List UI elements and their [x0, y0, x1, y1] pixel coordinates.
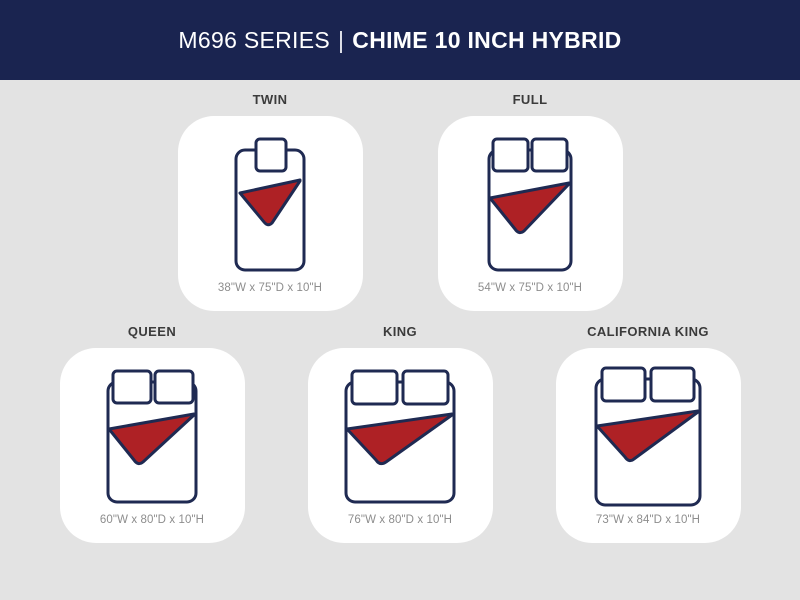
size-dims-twin: 38"W x 75"D x 10"H: [218, 282, 322, 311]
bed-illustration-wrap: [308, 360, 493, 514]
page-header: M696 SERIES | CHIME 10 INCH HYBRID: [0, 0, 800, 80]
size-cell-california-king[interactable]: CALIFORNIA KING 73"W x 84"D x 10"H: [553, 324, 743, 543]
size-label-full: FULL: [513, 92, 548, 107]
size-card-twin[interactable]: 38"W x 75"D x 10"H: [178, 116, 363, 311]
size-dims-california-king: 73"W x 84"D x 10"H: [596, 514, 700, 543]
size-dims-king: 76"W x 80"D x 10"H: [348, 514, 452, 543]
size-cell-twin[interactable]: TWIN 38"W x 75"D x 10"H: [175, 92, 365, 311]
size-cell-king[interactable]: KING 76"W x 80"D x 10"H: [305, 324, 495, 543]
bed-full-icon: [479, 135, 581, 275]
bed-illustration-wrap: [60, 360, 245, 514]
bed-queen-icon: [96, 367, 208, 507]
size-row-bottom: QUEEN 60"W x 80"D x 10"H KING: [0, 311, 800, 543]
size-card-king[interactable]: 76"W x 80"D x 10"H: [308, 348, 493, 543]
size-label-california-king: CALIFORNIA KING: [587, 324, 709, 339]
bed-illustration-wrap: [438, 128, 623, 282]
bed-king-icon: [334, 367, 466, 507]
size-label-queen: QUEEN: [128, 324, 176, 339]
bed-illustration-wrap: [556, 360, 741, 514]
size-card-queen[interactable]: 60"W x 80"D x 10"H: [60, 348, 245, 543]
size-card-full[interactable]: 54"W x 75"D x 10"H: [438, 116, 623, 311]
bed-california-king-icon: [584, 364, 712, 510]
size-label-king: KING: [383, 324, 417, 339]
size-cell-full[interactable]: FULL 54"W x 75"D x 10"H: [435, 92, 625, 311]
size-label-twin: TWIN: [253, 92, 288, 107]
title-series: M696 SERIES: [178, 27, 330, 54]
page-title: M696 SERIES | CHIME 10 INCH HYBRID: [178, 27, 621, 54]
size-row-top: TWIN 38"W x 75"D x 10"H FULL: [0, 80, 800, 311]
title-divider: |: [338, 27, 344, 54]
bed-twin-icon: [231, 135, 309, 275]
bed-illustration-wrap: [178, 128, 363, 282]
size-chart-content: TWIN 38"W x 75"D x 10"H FULL: [0, 80, 800, 600]
size-dims-queen: 60"W x 80"D x 10"H: [100, 514, 204, 543]
size-dims-full: 54"W x 75"D x 10"H: [478, 282, 582, 311]
size-card-california-king[interactable]: 73"W x 84"D x 10"H: [556, 348, 741, 543]
size-cell-queen[interactable]: QUEEN 60"W x 80"D x 10"H: [57, 324, 247, 543]
title-model: CHIME 10 INCH HYBRID: [352, 27, 621, 54]
